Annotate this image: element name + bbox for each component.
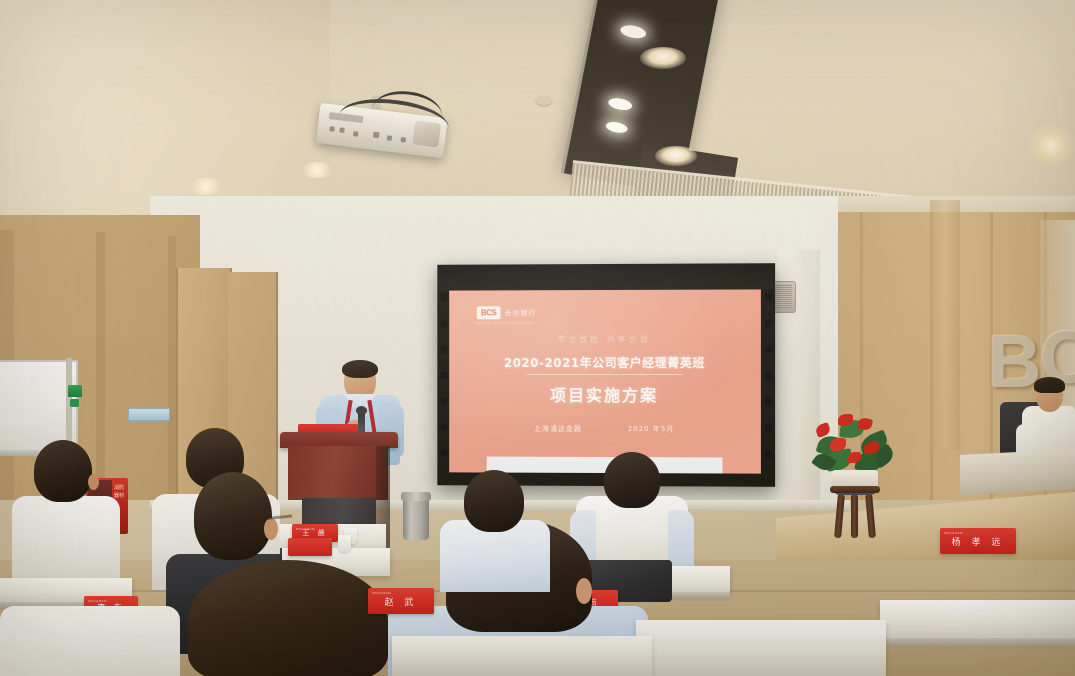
attendee-6: [440, 470, 550, 586]
attendee-3-hair: [194, 472, 272, 560]
stage-table-right: [960, 449, 1075, 495]
slide-logo-text: 长沙银行: [505, 308, 537, 318]
name-card-left-row1: [288, 538, 332, 556]
slide-footer-date: 2020 年5月: [628, 424, 675, 434]
attendee-7: [12, 440, 120, 580]
water-boiler-lid: [401, 492, 431, 501]
paper-cup-2: [338, 535, 351, 552]
speaker-grille: [774, 284, 792, 308]
channel-downlight-2: [607, 96, 633, 111]
table-right-front: [880, 600, 1075, 640]
attendee-4-ear: [576, 578, 592, 604]
attendee-8-hair: [1034, 377, 1065, 393]
slide-title-line1: 2020-2021年公司客户经理菁英班: [449, 354, 761, 371]
attendee-7-ear: [88, 474, 99, 490]
slide-brand-logo: BCS 长沙银行: [477, 306, 536, 319]
ceiling-downlight-left: [188, 178, 224, 195]
presentation-slide: BCS 长沙银行 BANK OF CHANGSHA 专业致胜 共享价值 2020…: [449, 289, 761, 473]
slide-divider: [526, 374, 682, 375]
flower-arrangement: [812, 408, 896, 538]
exit-sign-secondary-icon: [70, 399, 79, 407]
right-wall-column: [930, 200, 960, 450]
wall-logo-letter-b: B: [988, 325, 1039, 399]
attendee-1: [188, 560, 388, 676]
ceiling-spot-2: [655, 146, 697, 166]
wall-info-plate: [128, 408, 170, 421]
name-card-left-front-text: 赵 武: [385, 595, 418, 608]
screen-surface: BCS 长沙银行 BANK OF CHANGSHA 专业致胜 共享价值 2020…: [449, 289, 761, 473]
slide-logo-subtext: BANK OF CHANGSHA: [477, 320, 534, 325]
attendee-3-ear: [264, 518, 278, 540]
attendee-7-hair: [34, 440, 92, 502]
presenter-glasses-icon: [346, 375, 374, 381]
exit-sign-icon: [68, 385, 82, 397]
attendee-1-hair: [188, 560, 388, 676]
slide-title-line2: 项目实施方案: [449, 382, 761, 406]
ceiling-downlight-left2: [300, 162, 334, 178]
attendee-1b: [0, 596, 180, 676]
table-right-front-edge: [880, 638, 1075, 646]
conference-room-photo: B C BCS: [0, 0, 1075, 676]
ceiling-spot-1: [640, 47, 686, 69]
attendee-1b-body: [0, 606, 180, 676]
table-left-front: [392, 636, 652, 676]
attendee-7-body: [12, 496, 120, 582]
attendee-5-hair: [604, 452, 660, 508]
table-center-front: [636, 620, 886, 676]
name-card-right-front-text: 杨 孝 远: [952, 535, 1005, 548]
microphone-head-icon: [356, 406, 367, 415]
attendee-6-hair: [464, 470, 524, 532]
ceiling-downlight-right: [1028, 124, 1074, 166]
screen-top-rail: [437, 263, 775, 290]
slide-footer: 上海浦这金融 2020 年5月: [449, 424, 761, 435]
attendee-5-arm-right: [668, 510, 694, 570]
slide-logo-mark: BCS: [477, 306, 501, 319]
name-card-right-front: PROGRAM 杨 孝 远: [940, 528, 1016, 554]
name-card-left-front: PROGRAM 赵 武: [368, 588, 434, 614]
slide-tagline: 专业致胜 共享价值: [449, 334, 761, 345]
channel-downlight-1: [619, 23, 647, 40]
channel-downlight-3: [605, 120, 629, 134]
slide-footer-organization: 上海浦这金融: [534, 424, 582, 434]
smoke-detector-icon: [536, 96, 552, 105]
plant-stand: [836, 490, 874, 536]
